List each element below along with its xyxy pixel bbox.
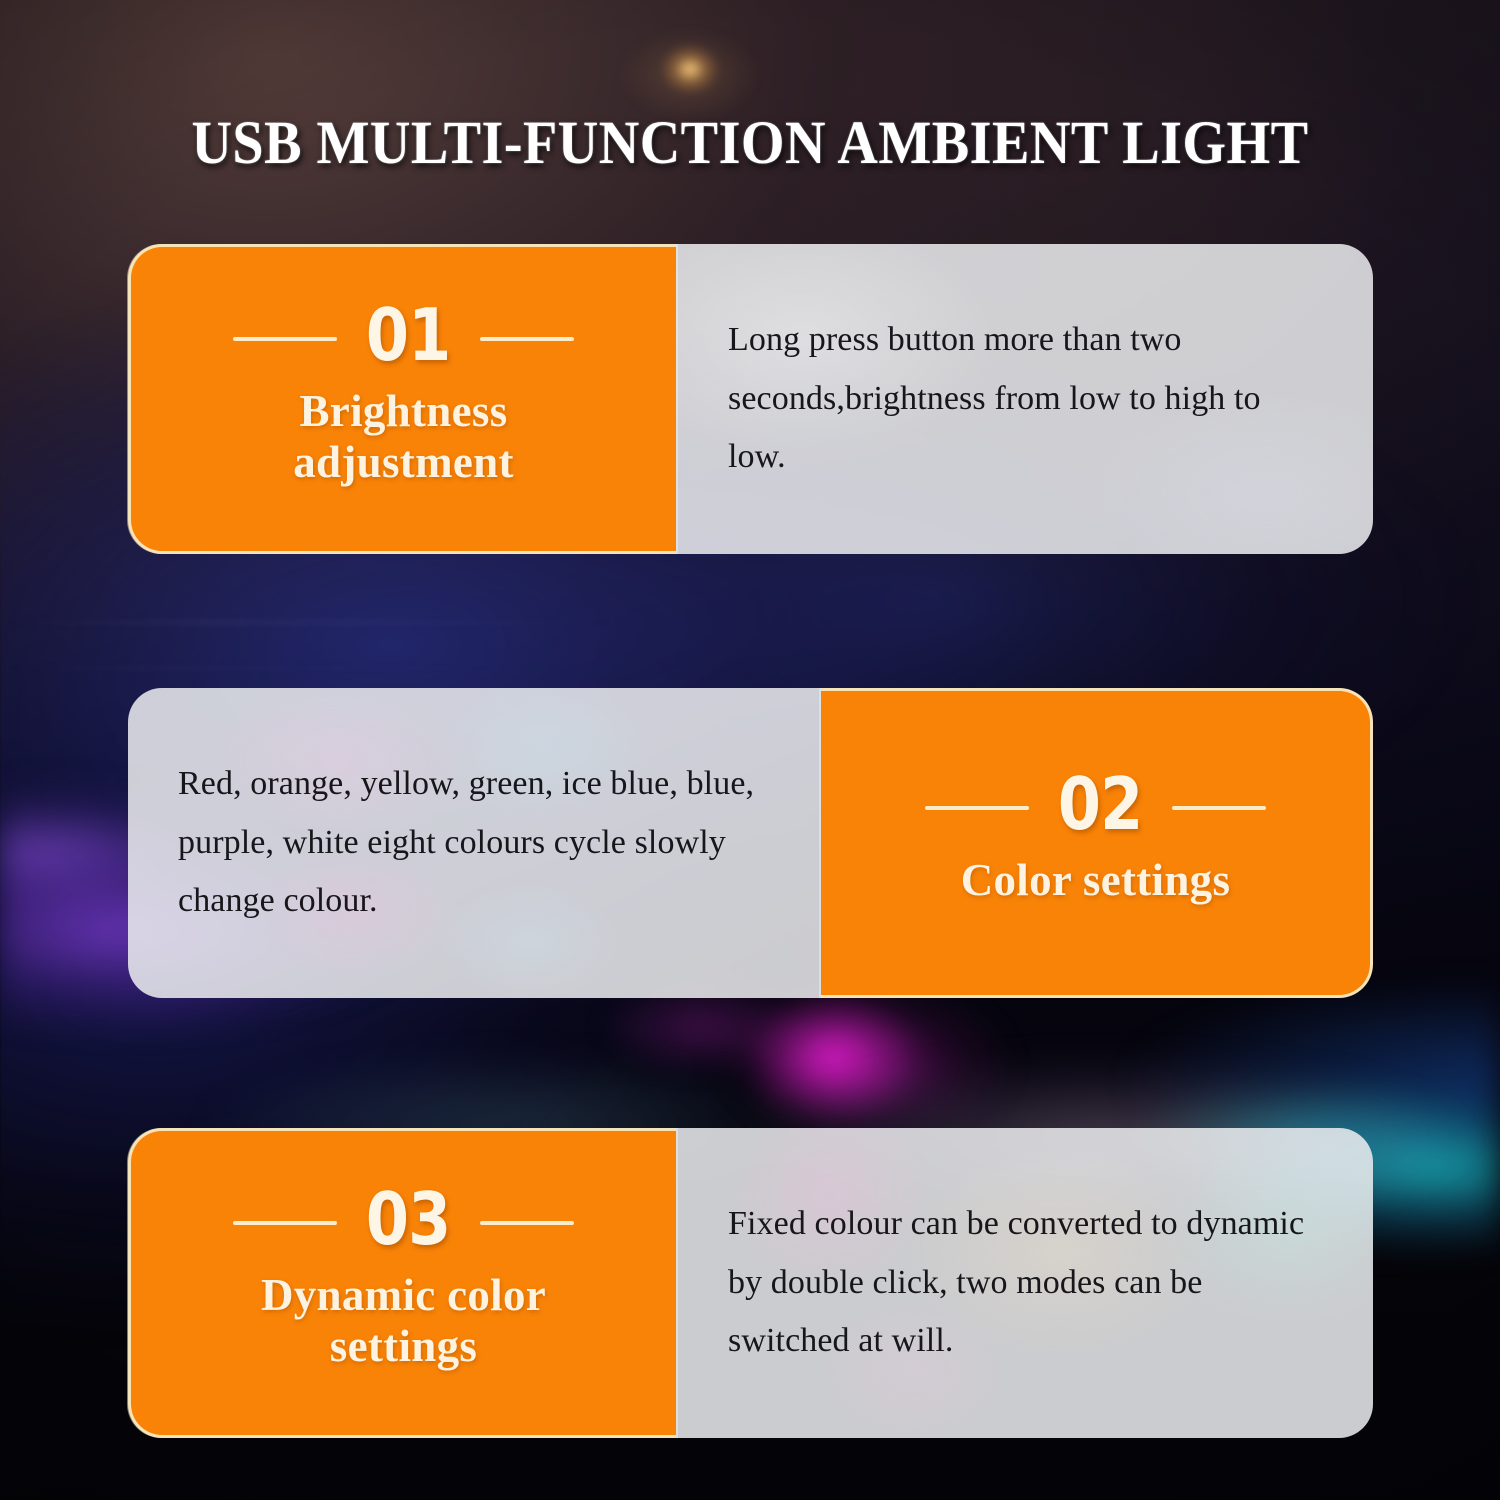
feature-body-02: Red, orange, yellow, green, ice blue, bl… xyxy=(178,755,781,930)
feature-heading-02: Color settings xyxy=(961,855,1231,906)
dash-left-icon xyxy=(233,1221,337,1225)
feature-card-02: 02 Color settings Red, orange, yellow, g… xyxy=(128,688,1373,998)
feature-label-panel-03: 03 Dynamic color settings xyxy=(128,1128,676,1438)
step-number-02: 02 xyxy=(1058,771,1142,837)
feature-heading-03: Dynamic color settings xyxy=(189,1270,619,1373)
feature-body-01: Long press button more than two seconds,… xyxy=(728,311,1321,486)
feature-body-03: Fixed colour can be converted to dynamic… xyxy=(728,1195,1321,1370)
step-number-01: 01 xyxy=(366,302,450,368)
infographic-stage: USB MULTI-FUNCTION AMBIENT LIGHT 01 Brig… xyxy=(0,0,1500,1500)
feature-heading-01: Brightness adjustment xyxy=(189,386,619,489)
dash-left-icon xyxy=(233,337,337,341)
step-number-03: 03 xyxy=(366,1186,450,1252)
step-number-row-01: 01 xyxy=(233,306,573,372)
dash-right-icon xyxy=(480,337,574,341)
feature-card-01: 01 Brightness adjustment Long press butt… xyxy=(128,244,1373,554)
dash-right-icon xyxy=(480,1221,574,1225)
step-number-row-03: 03 xyxy=(233,1190,573,1256)
feature-card-03: 03 Dynamic color settings Fixed colour c… xyxy=(128,1128,1373,1438)
dash-right-icon xyxy=(1172,806,1266,810)
feature-label-panel-01: 01 Brightness adjustment xyxy=(128,244,676,554)
feature-description-panel-03: Fixed colour can be converted to dynamic… xyxy=(676,1128,1373,1438)
feature-description-panel-02: Red, orange, yellow, green, ice blue, bl… xyxy=(128,688,821,998)
page-title: USB MULTI-FUNCTION AMBIENT LIGHT xyxy=(60,109,1440,179)
step-number-row-02: 02 xyxy=(925,775,1265,841)
dash-left-icon xyxy=(925,806,1029,810)
feature-label-panel-02: 02 Color settings xyxy=(821,688,1373,998)
feature-description-panel-01: Long press button more than two seconds,… xyxy=(676,244,1373,554)
